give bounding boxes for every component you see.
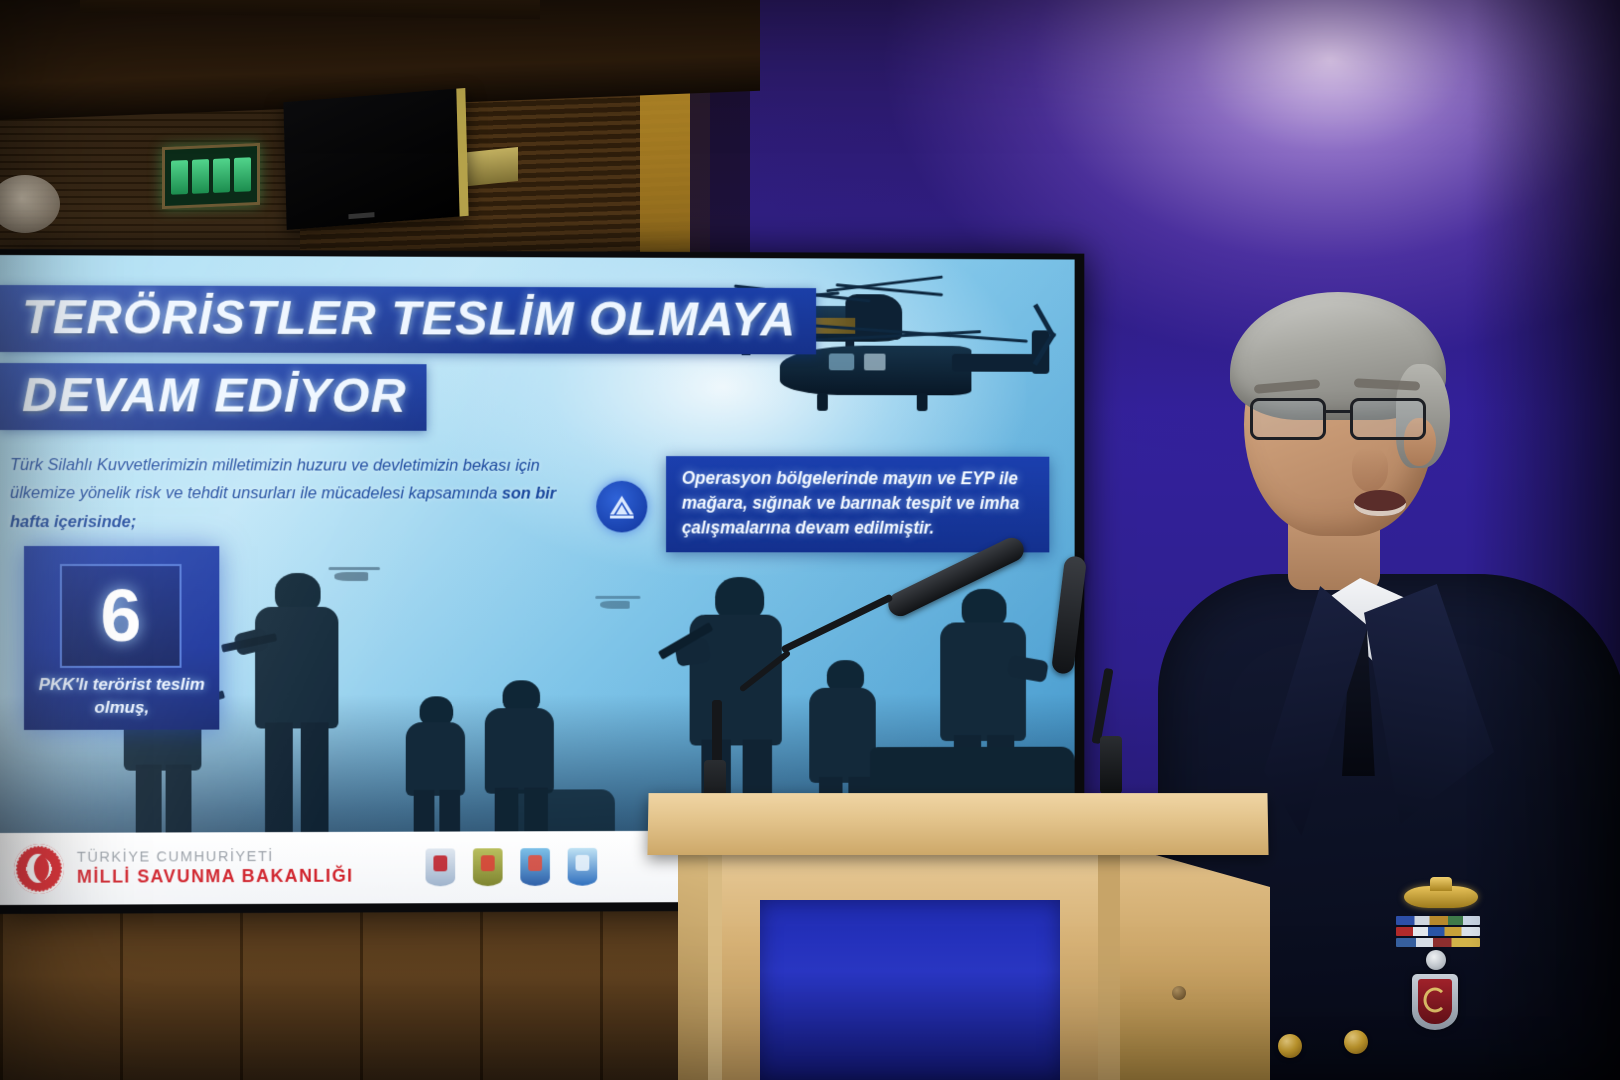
monitor-mount-arm: [460, 147, 518, 187]
soldier-silhouette: [394, 696, 475, 847]
callout-text: Operasyon bölgelerinde mayın ve EYP ile …: [682, 466, 1036, 540]
cave-shelter-icon: [596, 481, 647, 533]
emergency-exit-sign: [162, 143, 260, 209]
land-forces-crest: [473, 848, 503, 886]
eyeglass-lens-left: [1250, 398, 1326, 440]
soldier-silhouette: [235, 573, 354, 832]
podium-left-face: [678, 848, 708, 1080]
headline-line-2: DEVAM EDİYOR: [0, 363, 426, 431]
unit-shield-badge: [1412, 974, 1458, 1030]
nose: [1352, 448, 1388, 492]
eyeglass-bridge: [1326, 410, 1350, 413]
statistic-number: 6: [100, 579, 141, 653]
ribbon-bars: [1396, 916, 1480, 950]
air-force-crest: [520, 848, 550, 886]
uniform-button: [1344, 1030, 1368, 1054]
ceiling-beam: [80, 0, 540, 19]
mouth: [1354, 490, 1406, 516]
headline-line-1: TERÖRİSTLER TESLİM OLMAYA: [0, 285, 816, 354]
podium-blue-inset: [760, 900, 1060, 1080]
lower-wood-paneling: [0, 890, 700, 1080]
distant-helicopter: [595, 595, 640, 613]
right-edge-shadow: [1470, 0, 1620, 1080]
podium-top-surface[interactable]: [647, 793, 1268, 855]
organization-line-2: MİLLİ SAVUNMA BAKANLIĞI: [77, 866, 354, 888]
callout-box: Operasyon bölgelerinde mayın ve EYP ile …: [666, 456, 1049, 552]
statistic-number-box: 6: [60, 564, 182, 668]
statistic-label: PKK'lı terörist teslim olmuş,: [24, 674, 219, 720]
uniform-button: [1278, 1034, 1302, 1058]
wall-mounted-monitor: [283, 88, 468, 230]
podium-knob: [1172, 986, 1186, 1000]
paragraph-text: Türk Silahlı Kuvvetlerimizin milletimizi…: [10, 456, 540, 503]
slide-paragraph: Türk Silahlı Kuvvetlerimizin milletimizi…: [10, 451, 566, 536]
general-staff-crest: [426, 848, 456, 886]
turkish-mod-emblem: [14, 844, 64, 894]
submarine-warfare-badge: [1404, 886, 1478, 908]
collar-medal: [1426, 950, 1446, 970]
eyeglass-lens-right: [1350, 398, 1426, 440]
statistic-card: 6 PKK'lı terörist teslim olmuş,: [24, 546, 219, 730]
briefing-room-scene: TERÖRİSTLER TESLİM OLMAYA DEVAM EDİYOR T…: [0, 0, 1620, 1080]
eyeglasses: [1250, 398, 1440, 444]
naval-forces-crest: [568, 848, 598, 886]
service-branch-crests: [426, 848, 598, 886]
organization-line-1: TÜRKİYE CUMHURİYETİ: [77, 849, 354, 867]
slide-headline: TERÖRİSTLER TESLİM OLMAYA DEVAM EDİYOR: [0, 285, 1075, 432]
